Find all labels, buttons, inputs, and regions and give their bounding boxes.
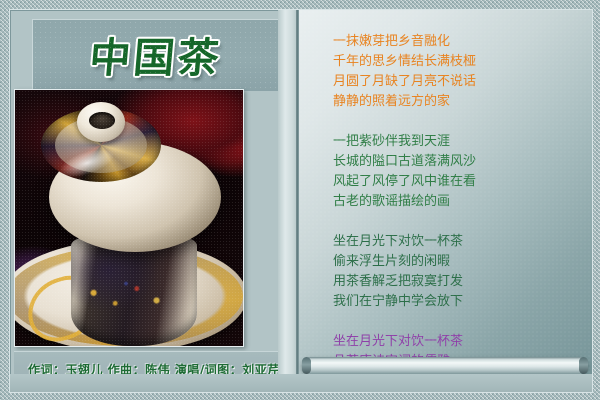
roller-cap-left — [302, 357, 311, 374]
lyrics-line: 偷来浮生片刻的闲暇 — [333, 252, 582, 272]
title-band: 中国茶 — [32, 19, 279, 91]
lyrics-line: 长城的隘口古道落满风沙 — [333, 152, 582, 172]
lyrics-stanza: 一抹嫩芽把乡音融化千年的思乡情结长满枝桠月圆了月缺了月亮不说话静静的照着远方的家 — [333, 32, 582, 112]
lyrics-line: 我们在宁静中学会放下 — [333, 292, 582, 312]
lyrics-line: 月圆了月缺了月亮不说话 — [333, 72, 582, 92]
lid-knob-hole — [89, 112, 115, 129]
tea-photo-frame — [14, 89, 244, 347]
screenshot-stage: 中国茶 — [0, 0, 600, 400]
main-card: 中国茶 — [9, 9, 593, 393]
lyrics-line: 坐在月光下对饮一杯茶 — [333, 332, 582, 352]
lyrics-line: 风起了风停了风中谁在看 — [333, 172, 582, 192]
lyrics-line: 一把紫砂伴我到天涯 — [333, 132, 582, 152]
lyrics-panel: 一抹嫩芽把乡音融化千年的思乡情结长满枝桠月圆了月缺了月亮不说话静静的照着远方的家… — [299, 10, 592, 392]
bottom-roller-bar[interactable] — [302, 357, 588, 374]
page-title: 中国茶 — [32, 24, 279, 84]
lyrics-container: 一抹嫩芽把乡音融化千年的思乡情结长满枝桠月圆了月缺了月亮不说话静静的照着远方的家… — [333, 32, 582, 392]
roller-cap-right — [579, 357, 588, 374]
lyrics-line: 用茶香解乏把寂寞打发 — [333, 272, 582, 292]
lyrics-line: 一抹嫩芽把乡音融化 — [333, 32, 582, 52]
lyrics-line: 坐在月光下对饮一杯茶 — [333, 232, 582, 252]
cup-ornament — [81, 276, 171, 318]
lyrics-stanza: 一把紫砂伴我到天涯长城的隘口古道落满风沙风起了风停了风中谁在看古老的歌谣描绘的画 — [333, 132, 582, 212]
lyrics-line: 千年的思乡情结长满枝桠 — [333, 52, 582, 72]
lyrics-stanza: 坐在月光下对饮一杯茶偷来浮生片刻的闲暇用茶香解乏把寂寞打发我们在宁静中学会放下 — [333, 232, 582, 312]
lyrics-line: 静静的照着远方的家 — [333, 92, 582, 112]
tea-photo — [15, 90, 243, 346]
left-column: 中国茶 — [10, 10, 278, 392]
lyrics-line: 古老的歌谣描绘的画 — [333, 192, 582, 212]
bottom-strip — [10, 374, 592, 392]
